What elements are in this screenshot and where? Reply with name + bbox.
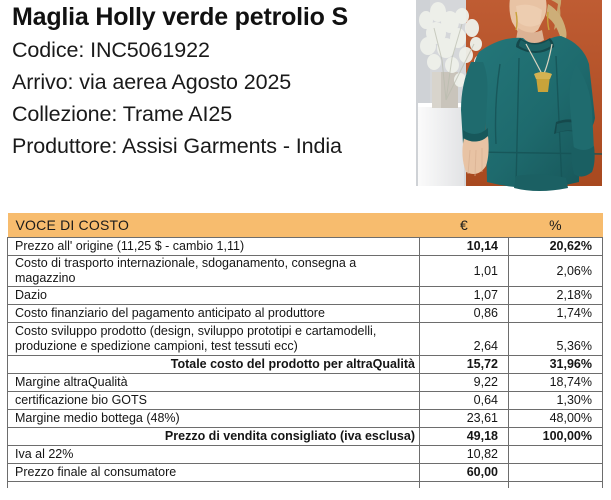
column-header-voce: VOCE DI COSTO: [8, 213, 420, 238]
product-info-block: Maglia Holly verde petrolio S Codice: IN…: [12, 0, 412, 162]
column-header-percent: %: [509, 213, 603, 238]
cell-percent: 20,62%: [509, 238, 603, 256]
cell-percent: 5,36%: [509, 323, 603, 356]
table-row-total: Totale costo del prodotto per altraQuali…: [8, 356, 603, 374]
cell-percent: 2,18%: [509, 287, 603, 305]
cell-euro: 2,64: [420, 323, 509, 356]
cell-euro: 9,22: [420, 374, 509, 392]
cell-euro: 60,00: [420, 464, 509, 482]
cell-percent: 48,00%: [509, 410, 603, 428]
table-row: Prezzo finale al consumatore 60,00: [8, 464, 603, 482]
cell-percent: 1,74%: [509, 305, 603, 323]
cell-label: Dazio: [8, 287, 420, 305]
cell-percent: [509, 446, 603, 464]
table-row: certificazione bio GOTS 0,64 1,30%: [8, 392, 603, 410]
cell-label: Margine medio bottega (48%): [8, 410, 420, 428]
cell-label: Costo di trasporto internazionale, sdoga…: [8, 256, 420, 287]
table-row: Dazio 1,07 2,18%: [8, 287, 603, 305]
table-header: VOCE DI COSTO € %: [8, 213, 603, 238]
cost-breakdown-table-wrapper: VOCE DI COSTO € % Prezzo all' origine (1…: [7, 213, 602, 488]
cell-spacer: [509, 482, 603, 489]
cell-label: Margine altraQualità: [8, 374, 420, 392]
product-arrival-line: Arrivo: via aerea Agosto 2025: [12, 66, 412, 98]
cell-euro: 23,61: [420, 410, 509, 428]
table-row: Costo finanziario del pagamento anticipa…: [8, 305, 603, 323]
table-row: Costo sviluppo prodotto (design, svilupp…: [8, 323, 603, 356]
cell-percent: [509, 464, 603, 482]
table-body: Prezzo all' origine (11,25 $ - cambio 1,…: [8, 238, 603, 489]
table-row-spacer: [8, 482, 603, 489]
cell-label: Prezzo finale al consumatore: [8, 464, 420, 482]
cell-euro: 1,07: [420, 287, 509, 305]
table-row: Margine medio bottega (48%) 23,61 48,00%: [8, 410, 603, 428]
cell-percent: 2,06%: [509, 256, 603, 287]
cost-breakdown-table: VOCE DI COSTO € % Prezzo all' origine (1…: [7, 213, 603, 488]
table-row: Margine altraQualità 9,22 18,74%: [8, 374, 603, 392]
table-row: Iva al 22% 10,82: [8, 446, 603, 464]
cell-label: Prezzo all' origine (11,25 $ - cambio 1,…: [8, 238, 420, 256]
cell-euro: 15,72: [420, 356, 509, 374]
product-code-line: Codice: INC5061922: [12, 34, 412, 66]
table-header-row: VOCE DI COSTO € %: [8, 213, 603, 238]
cell-euro: 0,64: [420, 392, 509, 410]
table-row: Prezzo all' origine (11,25 $ - cambio 1,…: [8, 238, 603, 256]
column-header-euro: €: [420, 213, 509, 238]
cell-percent: 1,30%: [509, 392, 603, 410]
cell-euro: 1,01: [420, 256, 509, 287]
cell-label: certificazione bio GOTS: [8, 392, 420, 410]
model-wearing-teal-sweatshirt-illustration: [416, 0, 602, 203]
cell-label: Prezzo di vendita consigliato (iva esclu…: [8, 428, 420, 446]
table-row: Costo di trasporto internazionale, sdoga…: [8, 256, 603, 287]
product-photo: [416, 0, 602, 203]
cell-euro: 10,14: [420, 238, 509, 256]
product-manufacturer-line: Produttore: Assisi Garments - India: [12, 130, 412, 162]
cell-euro: 49,18: [420, 428, 509, 446]
cell-label: Totale costo del prodotto per altraQuali…: [8, 356, 420, 374]
cell-spacer: [8, 482, 420, 489]
table-row-total: Prezzo di vendita consigliato (iva esclu…: [8, 428, 603, 446]
cell-percent: 18,74%: [509, 374, 603, 392]
cell-percent: 100,00%: [509, 428, 603, 446]
cell-label-line1: Costo sviluppo prodotto (design, svilupp…: [15, 324, 413, 339]
cell-label: Costo sviluppo prodotto (design, svilupp…: [8, 323, 420, 356]
cell-label: Iva al 22%: [8, 446, 420, 464]
page-title: Maglia Holly verde petrolio S: [12, 0, 412, 34]
cell-spacer: [420, 482, 509, 489]
product-cost-sheet: Maglia Holly verde petrolio S Codice: IN…: [0, 0, 611, 500]
cell-percent: 31,96%: [509, 356, 603, 374]
cell-label-line2: produzione e spedizione campioni, test t…: [15, 339, 413, 354]
product-collection-line: Collezione: Trame AI25: [12, 98, 412, 130]
cell-label: Costo finanziario del pagamento anticipa…: [8, 305, 420, 323]
cell-euro: 0,86: [420, 305, 509, 323]
cell-euro: 10,82: [420, 446, 509, 464]
